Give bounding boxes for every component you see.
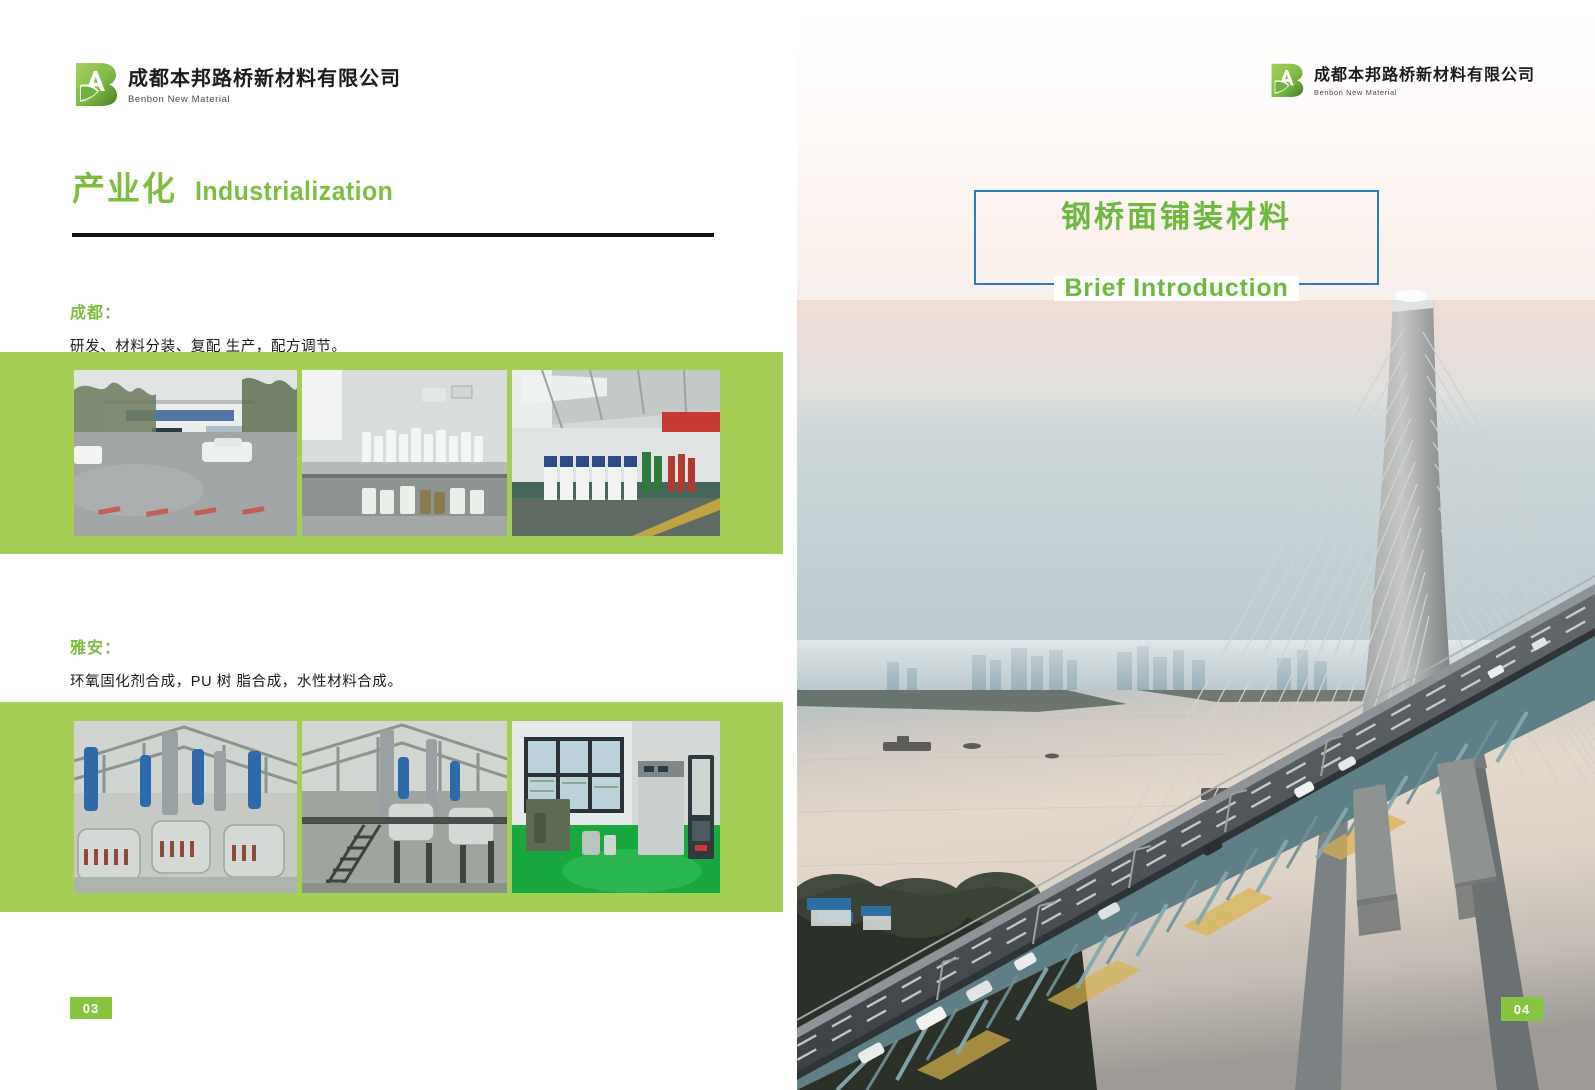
bridge-photo <box>797 0 1595 1090</box>
header-logo-left: 成都本邦路桥新材料有限公司 Benbon New Material <box>74 61 401 112</box>
logo-name-en: Benbon New Material <box>128 95 401 105</box>
page-number-right: 04 <box>1501 997 1543 1021</box>
block-city-label: 雅安： <box>70 634 403 658</box>
brochure-spread: 成都本邦路桥新材料有限公司 Benbon New Material 产业化 In… <box>0 0 1595 1090</box>
photo-reactor-workshop <box>74 721 297 893</box>
intro-title-cn: 钢桥面铺装材料 <box>976 200 1377 236</box>
logo-name-cn: 成都本邦路桥新材料有限公司 <box>128 69 401 89</box>
block-description: 环氧固化剂合成，PU 树 脂合成，水性材料合成。 <box>70 670 403 691</box>
block-heading-chengdu: 成都： 研发、材料分装、复配 生产，配方调节。 <box>70 299 346 356</box>
logo-name-en: Benbon New Material <box>1314 89 1535 97</box>
page-title-cn: 产业化 <box>72 172 177 205</box>
photo-synthesis-plant <box>302 721 507 893</box>
photo-factory-entrance <box>74 370 297 536</box>
intro-title-en: Brief Introduction <box>1054 276 1298 301</box>
page-number-left: 03 <box>70 997 112 1019</box>
logo-wordmark: 成都本邦路桥新材料有限公司 Benbon New Material <box>1314 68 1535 97</box>
title-divider <box>72 233 714 237</box>
logo-wordmark: 成都本邦路桥新材料有限公司 Benbon New Material <box>128 69 401 105</box>
photo-laboratory-bench <box>302 370 507 536</box>
left-page: 成都本邦路桥新材料有限公司 Benbon New Material 产业化 In… <box>0 0 797 1090</box>
benbon-b-logo-icon <box>1270 62 1304 103</box>
benbon-b-logo-icon <box>74 61 118 112</box>
intro-title-box: 钢桥面铺装材料 Brief Introduction <box>974 190 1379 285</box>
page-title: 产业化 Industrialization <box>72 172 411 205</box>
logo-name-cn: 成都本邦路桥新材料有限公司 <box>1314 68 1535 84</box>
photo-warehouse-drums <box>512 370 720 536</box>
block-heading-yaan: 雅安： 环氧固化剂合成，PU 树 脂合成，水性材料合成。 <box>70 634 403 691</box>
page-title-en: Industrialization <box>195 178 393 205</box>
header-logo-right: 成都本邦路桥新材料有限公司 Benbon New Material <box>1270 62 1535 103</box>
right-page: 成都本邦路桥新材料有限公司 Benbon New Material 钢桥面铺装材… <box>797 0 1595 1090</box>
photo-band-chengdu <box>0 352 783 554</box>
photo-testing-room <box>512 721 720 893</box>
photo-band-yaan <box>0 702 783 912</box>
intro-title-en-wrapper: Brief Introduction <box>976 276 1377 301</box>
block-city-label: 成都： <box>70 299 346 323</box>
